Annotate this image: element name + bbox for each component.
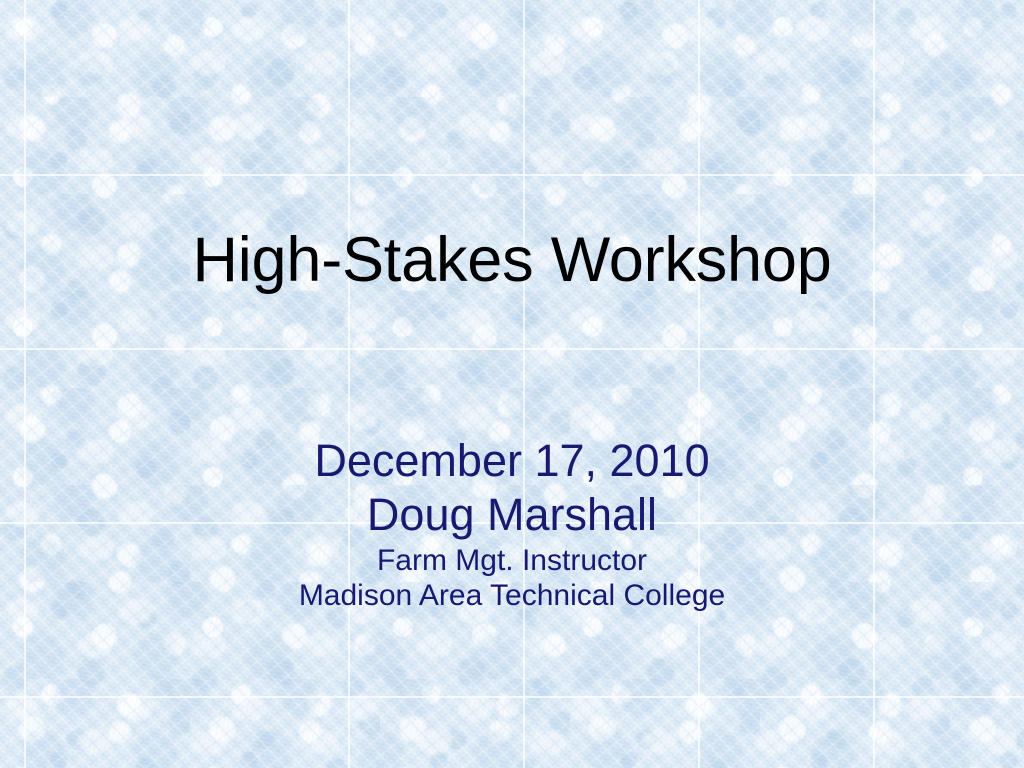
subtitle-date: December 17, 2010	[0, 434, 1024, 488]
background-tile-seams	[0, 0, 1024, 768]
title-block: High-Stakes Workshop	[0, 222, 1024, 298]
background-texture-blobs	[0, 0, 1024, 768]
subtitle-presenter-role: Farm Mgt. Instructor	[0, 543, 1024, 578]
subtitle-block: December 17, 2010 Doug Marshall Farm Mgt…	[0, 434, 1024, 613]
background-texture-mottle	[0, 0, 1024, 768]
slide-title: High-Stakes Workshop	[192, 222, 831, 298]
background-texture-grain	[0, 0, 1024, 768]
presentation-slide: High-Stakes Workshop December 17, 2010 D…	[0, 0, 1024, 768]
background-texture-fibers	[0, 0, 1024, 768]
subtitle-organization: Madison Area Technical College	[0, 578, 1024, 613]
background-shading	[0, 0, 1024, 768]
subtitle-presenter-name: Doug Marshall	[0, 488, 1024, 542]
